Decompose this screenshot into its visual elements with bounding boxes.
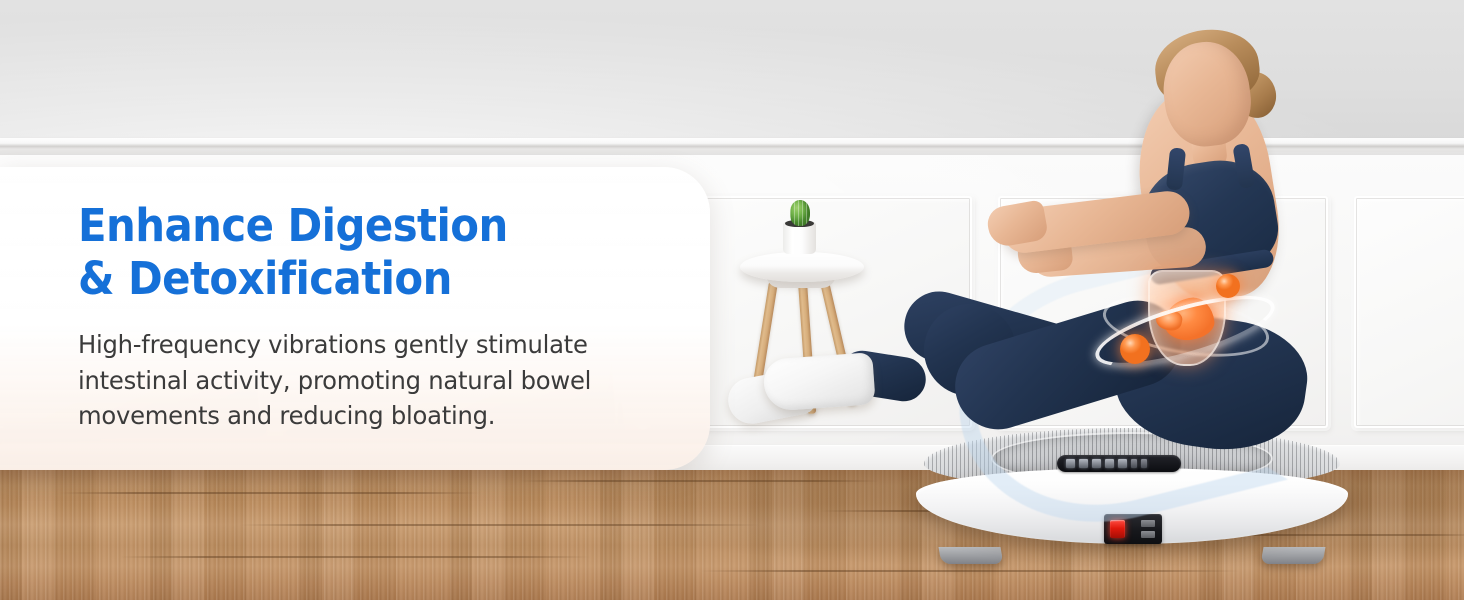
text-panel: Enhance Digestion & Detoxification High-… bbox=[0, 167, 710, 470]
plate-foot bbox=[1261, 547, 1326, 564]
promo-banner: Enhance Digestion & Detoxification High-… bbox=[0, 0, 1464, 600]
sock-front bbox=[762, 352, 875, 412]
plate-foot bbox=[939, 547, 1004, 564]
port bbox=[1141, 520, 1155, 527]
digestive-health-shield-icon bbox=[1092, 268, 1278, 384]
cactus-plant bbox=[790, 200, 810, 226]
energy-orb bbox=[1120, 334, 1150, 364]
port bbox=[1141, 531, 1155, 538]
table-top bbox=[740, 252, 864, 282]
page-title: Enhance Digestion & Detoxification bbox=[78, 199, 636, 305]
page-subcopy: High-frequency vibrations gently stimula… bbox=[78, 327, 660, 434]
text-panel-content: Enhance Digestion & Detoxification High-… bbox=[78, 199, 678, 434]
side-table bbox=[736, 198, 886, 468]
energy-orb bbox=[1216, 274, 1240, 298]
power-switch[interactable] bbox=[1110, 520, 1125, 538]
